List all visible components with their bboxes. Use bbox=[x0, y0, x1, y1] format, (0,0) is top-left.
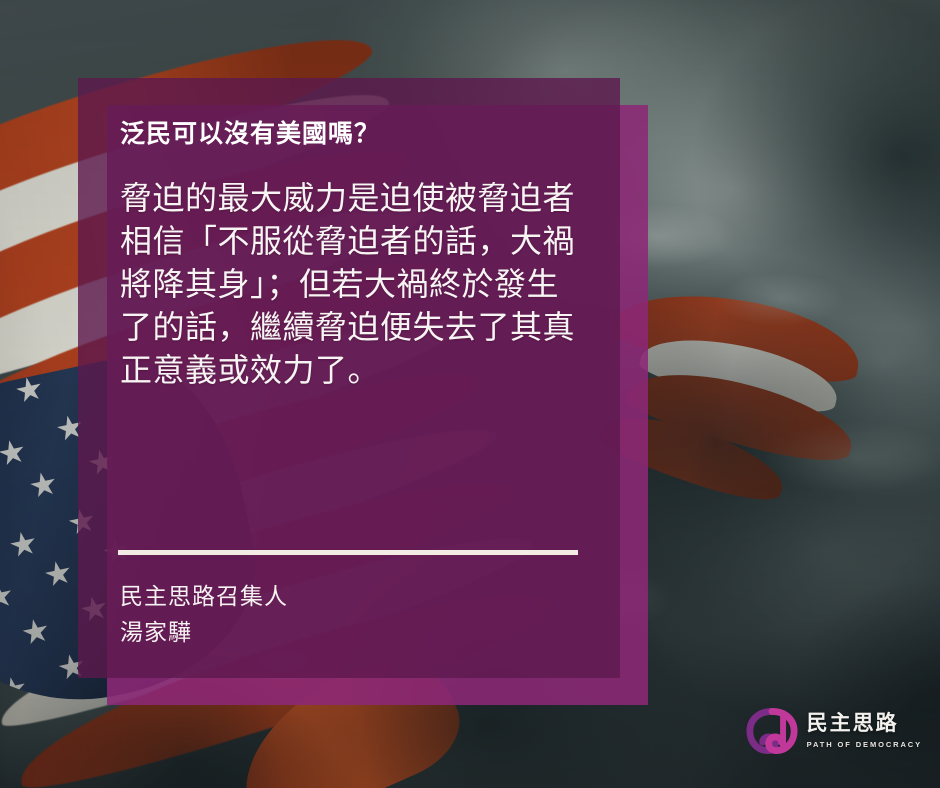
brand-name-en: PATH OF DEMOCRACY bbox=[807, 740, 922, 749]
attribution: 民主思路召集人 湯家驊 bbox=[120, 578, 288, 650]
attribution-role: 民主思路召集人 bbox=[120, 578, 288, 614]
attribution-divider bbox=[118, 550, 578, 555]
path-of-democracy-monogram-icon bbox=[746, 708, 798, 754]
brand-name-cn: 民主思路 bbox=[807, 713, 922, 735]
quote-poster: 泛民可以沒有美國嗎？ 脅迫的最大威力是迫使被脅迫者相信「不服從脅迫者的話，大禍將… bbox=[0, 0, 940, 788]
quote-title: 泛民可以沒有美國嗎？ bbox=[120, 118, 578, 151]
attribution-name: 湯家驊 bbox=[120, 614, 288, 650]
quote-body: 脅迫的最大威力是迫使被脅迫者相信「不服從脅迫者的話，大禍將降其身」；但若大禍終於… bbox=[120, 177, 578, 392]
brand-text: 民主思路 PATH OF DEMOCRACY bbox=[807, 713, 922, 748]
quote-card: 泛民可以沒有美國嗎？ 脅迫的最大威力是迫使被脅迫者相信「不服從脅迫者的話，大禍將… bbox=[78, 78, 620, 678]
brand-logo: 民主思路 PATH OF DEMOCRACY bbox=[746, 708, 922, 754]
